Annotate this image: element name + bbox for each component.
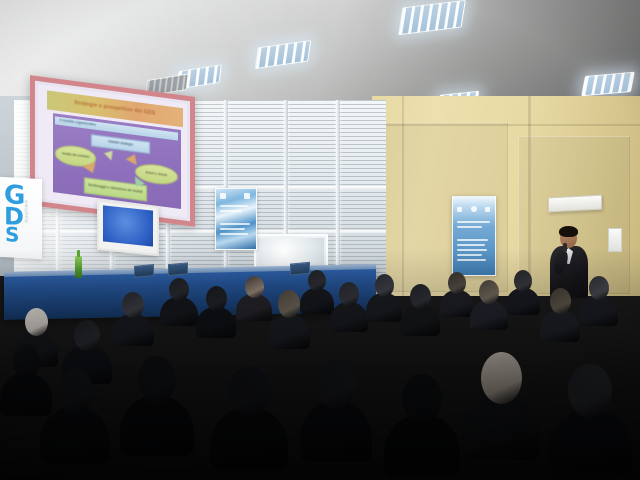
presenter-hair xyxy=(559,226,578,237)
poster-text-line xyxy=(220,205,248,207)
slide-arrow-icon xyxy=(103,148,112,160)
poster-logo-icon xyxy=(457,207,462,212)
presentation-slide: Strategie e prospettive del GDS Il model… xyxy=(38,84,187,218)
poster-text-line xyxy=(220,210,242,212)
banner-letter-s: S xyxy=(5,227,19,243)
poster-text-line xyxy=(220,233,248,235)
poster-text-line xyxy=(457,244,485,246)
wall-sign xyxy=(548,195,602,213)
audience-shadow-overlay xyxy=(0,248,640,480)
slide-arrow-icon xyxy=(126,152,140,166)
seated-audience xyxy=(0,248,640,480)
poster-logo-icon xyxy=(485,207,490,212)
poster-title-line xyxy=(457,221,490,223)
poster-text-line xyxy=(220,223,250,225)
wall-seam xyxy=(372,124,640,126)
conference-poster-on-blinds xyxy=(215,188,257,250)
banner-subtext: GRUPPO xyxy=(24,200,29,224)
poster-title-line xyxy=(457,226,482,228)
slide-title-text: Strategie e prospettive del GDS xyxy=(74,100,155,117)
poster-logo-icon xyxy=(220,193,226,199)
poster-logo-icon xyxy=(244,193,250,199)
slide-subtitle-text: Il modello organizzativo xyxy=(59,118,96,127)
poster-logo-icon xyxy=(471,206,477,212)
monitor-screen xyxy=(103,205,153,246)
poster-text-line xyxy=(457,239,488,241)
conference-hall-photo: Strategie e prospettive del GDS Il model… xyxy=(0,0,640,480)
slide-body: Il modello organizzativo Obiettivi strat… xyxy=(53,114,181,210)
poster-text-line xyxy=(220,228,245,230)
slide-node-center-top: Obiettivi strategici xyxy=(91,134,149,154)
gds-roll-up-banner: G D S GRUPPO xyxy=(0,177,42,259)
